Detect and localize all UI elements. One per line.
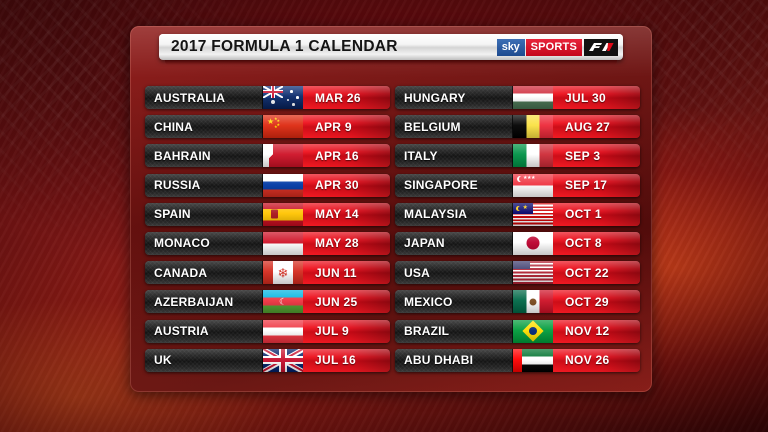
country-cell: AUSTRIA (145, 320, 263, 343)
country-name: AUSTRIA (154, 324, 209, 338)
flag-canada: ❄ (263, 261, 303, 284)
flag-cell: ★ (513, 203, 553, 226)
flag-brazil (513, 320, 553, 343)
race-date: NOV 12 (565, 324, 610, 338)
flag-cell (513, 86, 553, 109)
table-row[interactable]: CANADA❄JUN 11 (145, 261, 390, 284)
page-title: 2017 FORMULA 1 CALENDAR (171, 38, 398, 56)
globe-icon (529, 327, 537, 335)
race-date: OCT 1 (565, 207, 602, 221)
table-row[interactable]: BRAZILNOV 12 (395, 320, 640, 343)
race-date: SEP 3 (565, 149, 600, 163)
sun-disc-icon (527, 237, 540, 250)
country-name: HUNGARY (404, 91, 466, 105)
country-name: RUSSIA (154, 178, 201, 192)
country-name: AZERBAIJAN (154, 295, 233, 309)
coat-of-arms (530, 298, 537, 305)
race-date: NOV 26 (565, 353, 610, 367)
flag-malaysia: ★ (513, 203, 553, 226)
table-row[interactable]: BELGIUMAUG 27 (395, 115, 640, 138)
date-cell: SEP 17 (553, 174, 640, 197)
date-cell: SEP 3 (553, 144, 640, 167)
race-date: JUL 30 (565, 91, 606, 105)
date-cell: APR 9 (303, 115, 390, 138)
flag-cell (263, 174, 303, 197)
flag-azerbaijan: ☾ (263, 290, 303, 313)
flag-cell (513, 320, 553, 343)
country-cell: MALAYSIA (395, 203, 513, 226)
flag-cell (263, 320, 303, 343)
table-row[interactable]: JAPANOCT 8 (395, 232, 640, 255)
table-row[interactable]: RUSSIAAPR 30 (145, 174, 390, 197)
sky-logo-text: sky (497, 39, 525, 56)
country-cell: HUNGARY (395, 86, 513, 109)
table-row[interactable]: HUNGARYJUL 30 (395, 86, 640, 109)
country-cell: CANADA (145, 261, 263, 284)
flag-usa (513, 261, 553, 284)
date-cell: APR 16 (303, 144, 390, 167)
flag-bahrain (263, 144, 303, 167)
crescent-star-icon: ☾ (279, 297, 287, 306)
race-date: MAY 14 (315, 207, 359, 221)
maple-leaf-icon: ❄ (278, 266, 289, 279)
flag-cell (513, 115, 553, 138)
race-date: OCT 8 (565, 236, 602, 250)
country-name: CANADA (154, 266, 207, 280)
table-row[interactable]: CHINA★★★★★APR 9 (145, 115, 390, 138)
table-row[interactable]: BAHRAINAPR 16 (145, 144, 390, 167)
flag-belgium (513, 115, 553, 138)
date-cell: APR 30 (303, 174, 390, 197)
country-cell: UK (145, 349, 263, 372)
flag-monaco (263, 232, 303, 255)
date-cell: JUL 9 (303, 320, 390, 343)
date-cell: OCT 1 (553, 203, 640, 226)
flag-cell: ★★★ (513, 174, 553, 197)
sky-sports-f1-logo: sky SPORTS (497, 39, 618, 56)
race-date: APR 30 (315, 178, 359, 192)
title-bar-shadow (165, 60, 617, 65)
country-name: CHINA (154, 120, 193, 134)
country-name: BELGIUM (404, 120, 461, 134)
date-cell: OCT 22 (553, 261, 640, 284)
flag-japan (513, 232, 553, 255)
flag-cell: ★★★★★ (263, 115, 303, 138)
country-cell: AZERBAIJAN (145, 290, 263, 313)
race-date: JUL 16 (315, 353, 356, 367)
flag-cell: ☾ (263, 290, 303, 313)
table-row[interactable]: MEXICOOCT 29 (395, 290, 640, 313)
country-cell: RUSSIA (145, 174, 263, 197)
country-cell: BELGIUM (395, 115, 513, 138)
crescent-icon (516, 206, 522, 212)
calendar-panel: 2017 FORMULA 1 CALENDAR sky SPORTS AUSTR… (130, 26, 652, 392)
race-date: JUN 11 (315, 266, 357, 280)
crescent-icon (517, 176, 524, 183)
date-cell: NOV 12 (553, 320, 640, 343)
country-name: BRAZIL (404, 324, 449, 338)
race-date: AUG 27 (565, 120, 610, 134)
country-cell: SINGAPORE (395, 174, 513, 197)
race-date: JUN 25 (315, 295, 358, 309)
flag-cell (263, 349, 303, 372)
flag-russia (263, 174, 303, 197)
race-date: APR 9 (315, 120, 352, 134)
race-date: OCT 22 (565, 266, 609, 280)
country-name: SPAIN (154, 207, 191, 221)
country-name: JAPAN (404, 236, 445, 250)
table-row[interactable]: ITALYSEP 3 (395, 144, 640, 167)
date-cell: MAR 26 (303, 86, 390, 109)
flag-cell (513, 349, 553, 372)
country-cell: USA (395, 261, 513, 284)
table-row[interactable]: MONACOMAY 28 (145, 232, 390, 255)
country-name: USA (404, 266, 430, 280)
country-cell: MONACO (145, 232, 263, 255)
union-jack (263, 349, 303, 372)
table-row[interactable]: UKJUL 16 (145, 349, 390, 372)
country-name: MEXICO (404, 295, 453, 309)
flag-cell (513, 261, 553, 284)
table-row[interactable]: USAOCT 22 (395, 261, 640, 284)
country-cell: BAHRAIN (145, 144, 263, 167)
table-row[interactable]: AUSTRIAJUL 9 (145, 320, 390, 343)
sports-logo-text: SPORTS (526, 39, 582, 56)
country-name: SINGAPORE (404, 178, 478, 192)
country-name: BAHRAIN (154, 149, 211, 163)
country-name: ABU DHABI (404, 353, 473, 367)
calendar-column-right: HUNGARYJUL 30BELGIUMAUG 27ITALYSEP 3SING… (395, 86, 640, 378)
country-cell: AUSTRALIA (145, 86, 263, 109)
stars-canton (513, 261, 530, 269)
country-cell: BRAZIL (395, 320, 513, 343)
country-cell: CHINA (145, 115, 263, 138)
flag-cell (263, 144, 303, 167)
date-cell: JUL 16 (303, 349, 390, 372)
flag-italy (513, 144, 553, 167)
date-cell: NOV 26 (553, 349, 640, 372)
calendar-column-left: AUSTRALIAMAR 26CHINA★★★★★APR 9BAHRAINAPR… (145, 86, 390, 378)
country-name: AUSTRALIA (154, 91, 225, 105)
f1-logo (584, 39, 618, 56)
flag-mexico (513, 290, 553, 313)
flag-uae (513, 349, 553, 372)
country-name: MALAYSIA (404, 207, 467, 221)
race-date: OCT 29 (565, 295, 609, 309)
table-row[interactable]: ABU DHABINOV 26 (395, 349, 640, 372)
date-cell: OCT 29 (553, 290, 640, 313)
country-cell: ITALY (395, 144, 513, 167)
flag-singapore: ★★★ (513, 174, 553, 197)
race-date: JUL 9 (315, 324, 349, 338)
country-name: ITALY (404, 149, 438, 163)
flag-cell (513, 290, 553, 313)
table-row[interactable]: SPAINMAY 14 (145, 203, 390, 226)
date-cell: OCT 8 (553, 232, 640, 255)
date-cell: MAY 28 (303, 232, 390, 255)
country-cell: ABU DHABI (395, 349, 513, 372)
flag-australia (263, 86, 303, 109)
flag-china: ★★★★★ (263, 115, 303, 138)
star-icon: ★ (523, 206, 528, 211)
flag-cell (263, 86, 303, 109)
flag-cell (513, 144, 553, 167)
date-cell: AUG 27 (553, 115, 640, 138)
race-date: APR 16 (315, 149, 359, 163)
flag-cell (263, 203, 303, 226)
flag-spain (263, 203, 303, 226)
race-date: MAR 26 (315, 91, 361, 105)
country-cell: SPAIN (145, 203, 263, 226)
table-row[interactable]: SINGAPORE★★★SEP 17 (395, 174, 640, 197)
star-icon: ★ (267, 118, 274, 125)
country-name: UK (154, 353, 172, 367)
table-row[interactable]: AUSTRALIAMAR 26 (145, 86, 390, 109)
date-cell: JUN 25 (303, 290, 390, 313)
country-cell: JAPAN (395, 232, 513, 255)
race-date: SEP 17 (565, 178, 607, 192)
flag-uk (263, 349, 303, 372)
flag-cell (513, 232, 553, 255)
flag-cell (263, 232, 303, 255)
union-jack-canton (263, 86, 283, 98)
flag-hungary (513, 86, 553, 109)
title-bar: 2017 FORMULA 1 CALENDAR sky SPORTS (159, 34, 623, 60)
country-cell: MEXICO (395, 290, 513, 313)
race-date: MAY 28 (315, 236, 359, 250)
country-name: MONACO (154, 236, 210, 250)
table-row[interactable]: AZERBAIJAN☾JUN 25 (145, 290, 390, 313)
flag-cell: ❄ (263, 261, 303, 284)
coat-of-arms (271, 210, 278, 219)
date-cell: JUN 11 (303, 261, 390, 284)
date-cell: JUL 30 (553, 86, 640, 109)
flag-austria (263, 320, 303, 343)
table-row[interactable]: MALAYSIA★OCT 1 (395, 203, 640, 226)
date-cell: MAY 14 (303, 203, 390, 226)
